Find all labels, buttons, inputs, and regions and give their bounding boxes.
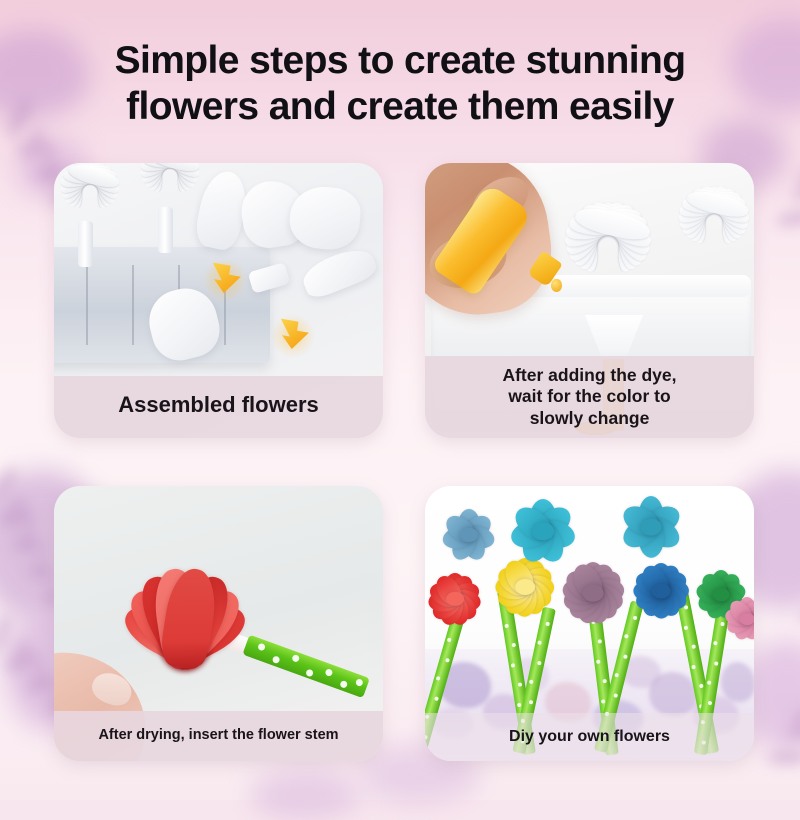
page-title: Simple steps to create stunning flowers … [0,38,800,129]
red-flower [112,508,258,688]
flower-core [460,528,478,542]
direction-arrow-2 [270,313,316,359]
flower-core [740,613,754,625]
stem-polka-dot [305,668,314,677]
flower-core [641,519,662,536]
bouquet-flower [487,559,563,616]
panel-caption-dye: After adding the dye, wait for the color… [425,356,754,438]
tray-post-1 [78,221,93,267]
steps-grid: Assembled flowers After adding the dye, … [54,163,754,761]
panel-caption-stem: After drying, insert the flower stem [54,711,383,761]
stem-polka-dot [355,678,364,687]
panel-diy-flowers[interactable]: Diy your own flowers [425,486,754,761]
background-floral-blob [250,770,360,820]
headline-line-1: Simple steps to create stunning [0,38,800,84]
caption-text: Diy your own flowers [509,727,670,747]
bouquet-flower [425,574,489,625]
stem-polka-dot [291,654,300,663]
panel-add-dye[interactable]: After adding the dye, wait for the color… [425,163,754,438]
flower-core [515,579,535,595]
bouquet-flower [625,564,697,618]
stem-polka-dot [339,680,348,689]
panel-caption-diy: Diy your own flowers [425,713,754,761]
flower-core [583,585,604,602]
flower-core [446,592,464,606]
caption-line-1: After adding the dye, [502,365,676,386]
flower-core [652,584,671,599]
stem-polka-dot [257,642,266,651]
stem-polka-dot [324,668,333,677]
bouquet-flower [611,497,691,557]
caption-text: Assembled flowers [118,392,319,419]
green-polka-dot-stem [242,635,369,699]
headline-line-2: flowers and create them easily [0,84,800,130]
caption-line-3: slowly change [530,408,650,429]
flower-core [532,522,554,540]
bouquet-flower [553,563,633,623]
loose-petal-5 [298,242,379,301]
panel-insert-stem[interactable]: After drying, insert the flower stem [54,486,383,761]
stem-polka-dot [272,655,281,664]
panel-caption-assembled: Assembled flowers [54,376,383,438]
direction-arrow-1 [202,257,248,303]
tray-post-2 [158,207,173,253]
bouquet-flower [501,500,585,563]
bouquet-flower [435,510,503,561]
bouquet-flower [719,598,754,640]
bouquet-base-splotch [721,662,754,702]
caption-line-2: wait for the color to [508,386,670,407]
white-flower-right [653,179,755,250]
dye-drop [551,279,562,292]
caption-text: After drying, insert the flower stem [98,727,338,745]
panel-assembled-flowers[interactable]: Assembled flowers [54,163,383,438]
